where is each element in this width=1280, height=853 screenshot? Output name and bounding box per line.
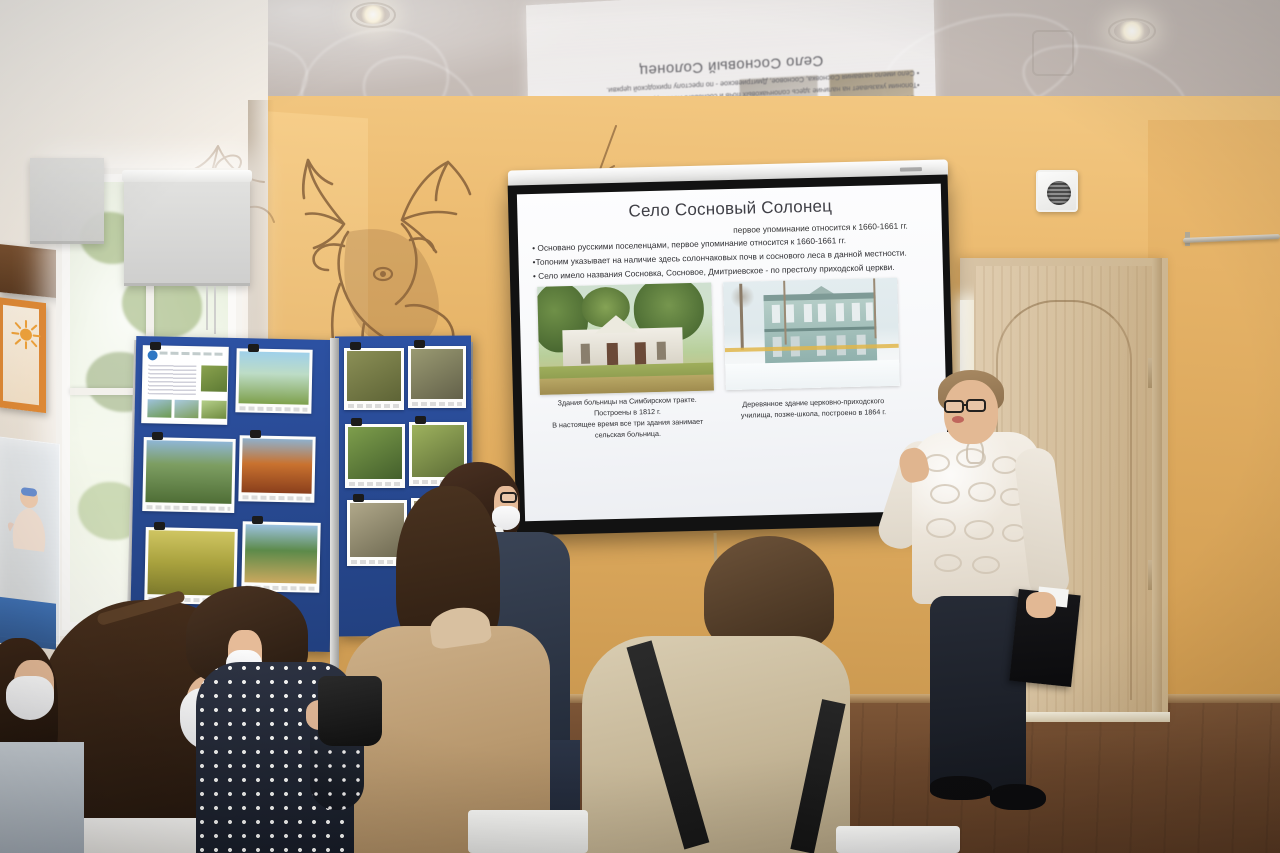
presenter-shoe-right (990, 784, 1046, 810)
board-photo (408, 346, 466, 408)
presenter-glasses (966, 399, 986, 412)
projected-slide: Село Сосновый Солонец первое упоминание … (517, 184, 949, 522)
recessed-ceiling-spotlight (1114, 21, 1150, 41)
hospital-buildings-photo (537, 283, 714, 395)
face-mask (6, 676, 54, 720)
far-left-shoulder (0, 742, 84, 853)
recessed-ceiling-spotlight (356, 5, 390, 24)
presenter-legs (930, 596, 1026, 796)
door-frame-edge (1152, 258, 1162, 720)
blind-pull-cord[interactable] (206, 286, 208, 330)
board-photo (238, 435, 315, 503)
wall-ventilation-fan (1036, 170, 1078, 212)
presenter-glasses (944, 400, 964, 413)
board-photo (344, 348, 404, 410)
sun-icon (9, 316, 43, 354)
presenter-glasses-bridge (963, 404, 968, 406)
board-photo (142, 437, 236, 513)
roller-blind-casing (122, 170, 252, 182)
vent-grille-icon (1047, 181, 1071, 205)
presentation-room-scene: • Основано русскими поселенцами, первое … (0, 0, 1280, 853)
board-leg-middle (330, 338, 339, 668)
presenter-shoe-left (930, 776, 992, 800)
info-sheet-card (141, 345, 229, 425)
hospital-photo-caption: Здания больницы на Симбирском тракте. По… (540, 395, 715, 443)
board-photo (345, 424, 405, 488)
white-table-foreground (836, 826, 960, 853)
blind-pull-cord-2[interactable] (214, 286, 216, 334)
pull-down-projection-screen: Село Сосновый Солонец первое упоминание … (508, 174, 957, 535)
slide-title: Село Сосновый Солонец (531, 194, 929, 224)
parish-school-photo (723, 278, 900, 390)
dark-bag (318, 676, 382, 746)
screen-brand-mark (900, 167, 922, 172)
white-chair-foreground (468, 810, 588, 853)
framed-sun-artwork (0, 297, 46, 413)
roller-blind-left[interactable] (30, 158, 104, 244)
school-photo-caption: Деревянное здание церковно-приходского у… (726, 390, 901, 438)
roller-blind-right[interactable] (124, 178, 250, 286)
board-photo (235, 348, 312, 414)
presenter-hand-holding-folder (1026, 592, 1056, 618)
board-photo (241, 521, 320, 593)
audience-glasses (500, 492, 517, 503)
doll-figurine (6, 477, 52, 563)
